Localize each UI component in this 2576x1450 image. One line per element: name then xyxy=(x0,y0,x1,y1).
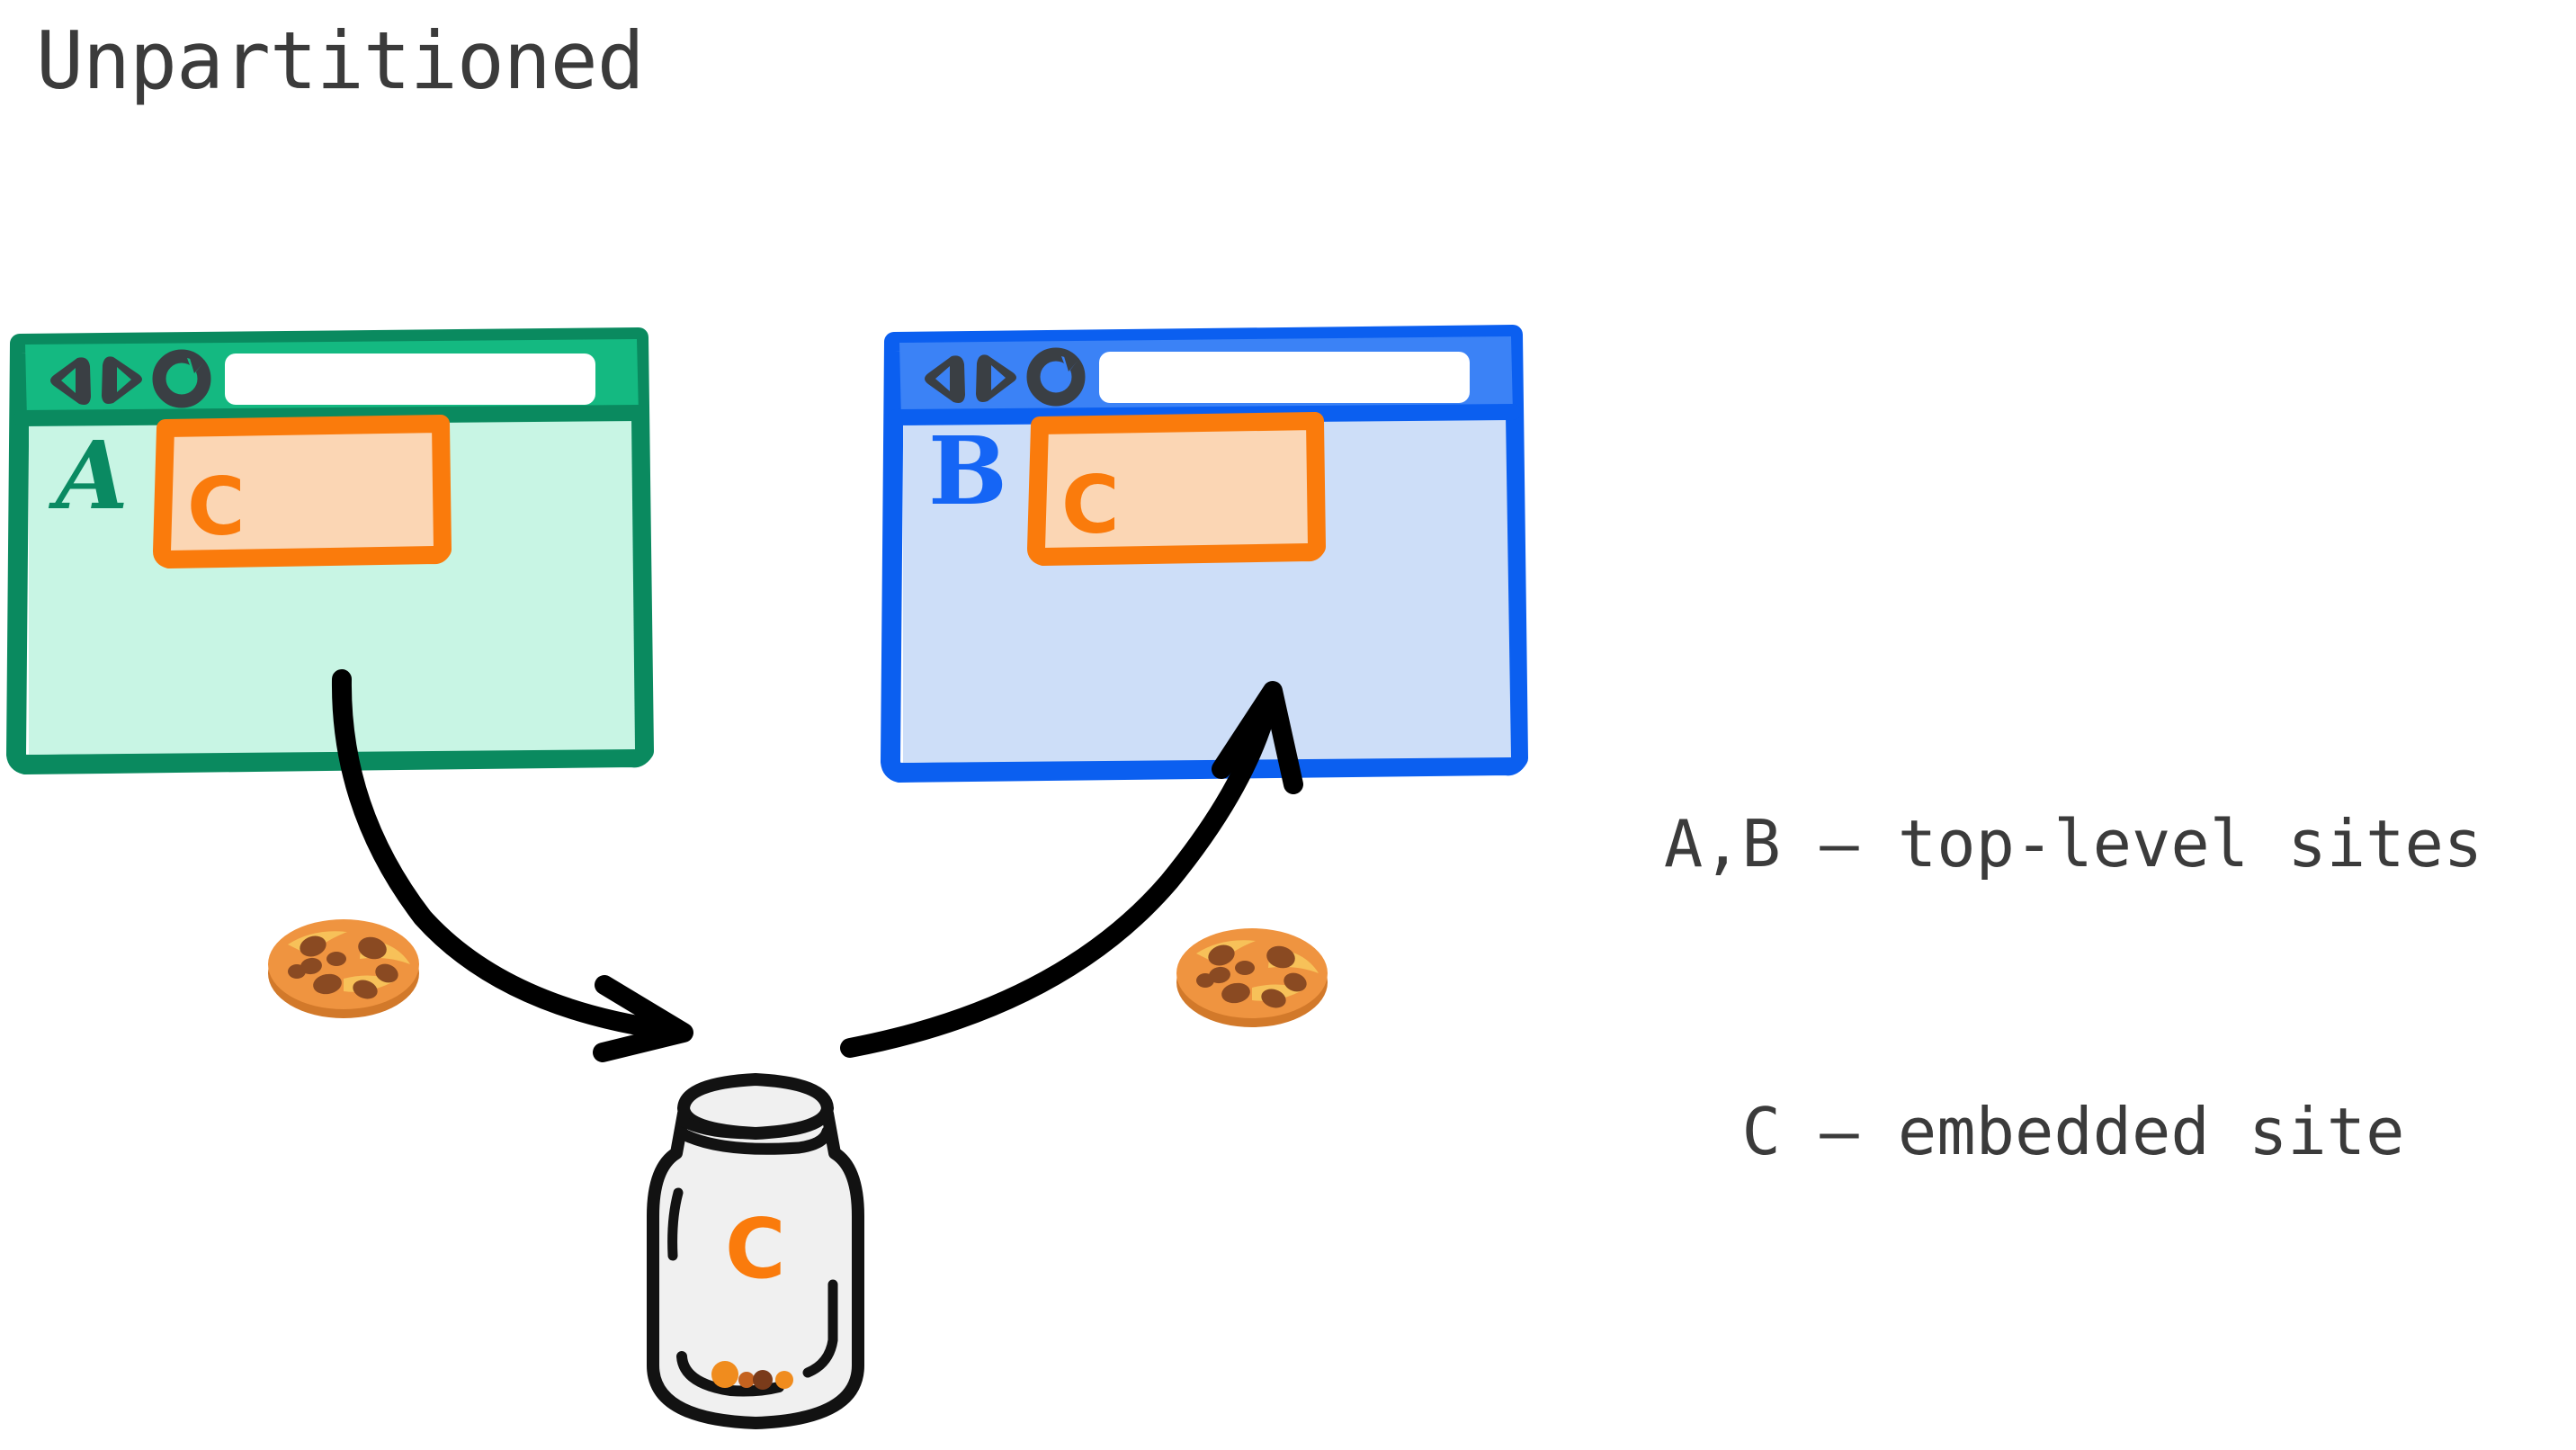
jar-crumb xyxy=(711,1361,738,1388)
browser-window-a[interactable]: A C xyxy=(9,328,657,796)
jar-crumb xyxy=(775,1371,793,1389)
diagram-canvas: Unpartitioned A,B – top-level sites C – … xyxy=(0,0,2576,1450)
jar-highlight-left xyxy=(673,1193,678,1256)
cookie-icon xyxy=(261,908,427,1025)
legend-line-embedded-site: C – embedded site xyxy=(1601,1084,2545,1180)
window-a-site-label: A xyxy=(56,429,129,523)
browser-window-b[interactable]: B C xyxy=(881,324,1529,801)
jar-site-label: C xyxy=(725,1208,786,1291)
cookie-icon xyxy=(1169,917,1336,1034)
window-a-frame-label: C xyxy=(187,468,246,547)
jar-crumb xyxy=(738,1372,755,1388)
legend-line-top-level-sites: A,B – top-level sites xyxy=(1601,796,2545,892)
jar-crumb xyxy=(753,1370,773,1390)
window-b-site-label: B xyxy=(928,425,1007,518)
window-b-frame-label: C xyxy=(1061,466,1120,545)
cookie-jar: C xyxy=(621,1043,890,1439)
legend: A,B – top-level sites C – embedded site xyxy=(1601,604,2545,1371)
page-title: Unpartitioned xyxy=(36,20,644,103)
